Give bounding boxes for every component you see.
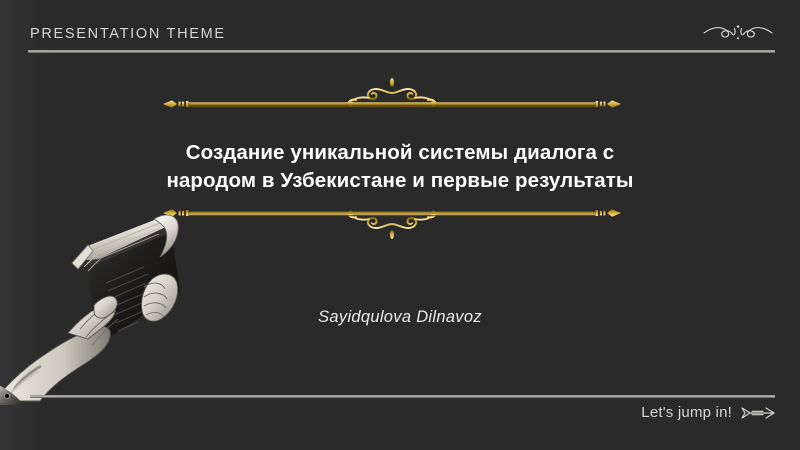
gold-ornamental-divider-bottom bbox=[163, 197, 621, 241]
gold-ornamental-divider-top bbox=[163, 76, 621, 120]
cta-label: Let's jump in! bbox=[641, 404, 732, 421]
header-label: PRESENTATION THEME bbox=[30, 26, 226, 42]
author-name: Sayidqulova Dilnavoz bbox=[150, 308, 650, 327]
footer-divider-line bbox=[30, 395, 775, 398]
presentation-slide: PRESENTATION THEME bbox=[0, 0, 800, 450]
ornamental-arrow-right-icon bbox=[741, 405, 775, 421]
corner-swirl-flourish bbox=[700, 16, 776, 44]
slide-title: Создание уникальной системы диалога с на… bbox=[150, 139, 650, 195]
cta-group[interactable]: Let's jump in! bbox=[641, 404, 775, 421]
header-divider-line bbox=[28, 50, 775, 53]
